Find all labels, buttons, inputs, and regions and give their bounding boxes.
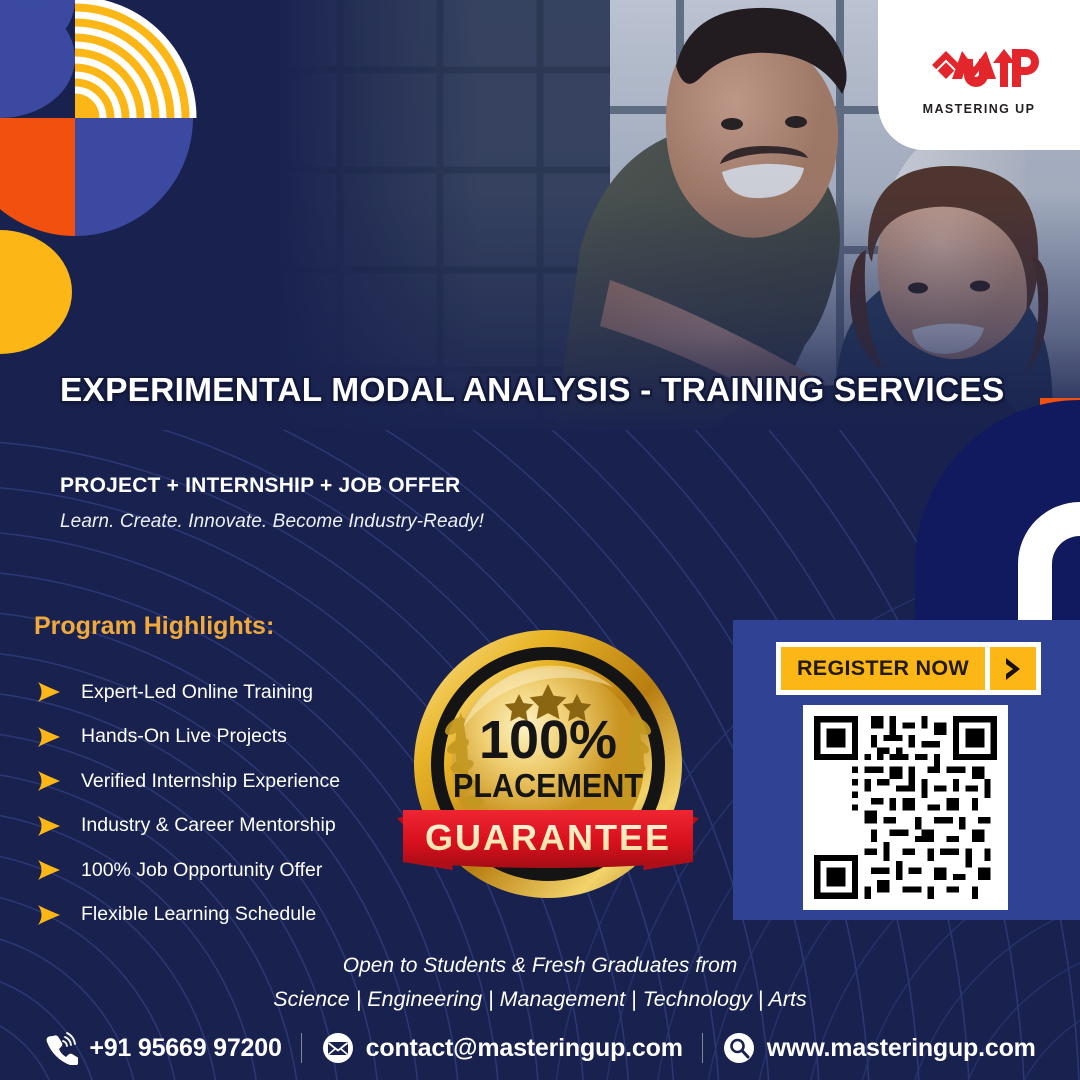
arrow-right-icon [36, 770, 62, 792]
footer-separator [301, 1033, 302, 1063]
list-item: Hands-On Live Projects [36, 715, 340, 760]
contact-phone[interactable]: +91 95669 97200 [44, 1031, 281, 1065]
brand-logo-card: MASTERING UP [878, 0, 1080, 150]
qr-code-icon [814, 716, 997, 899]
arrow-right-icon [36, 726, 62, 748]
contact-website[interactable]: www.masteringup.com [722, 1031, 1036, 1065]
promo-poster: MASTERING UP EXPERIMENTAL MODAL ANALYSIS… [0, 0, 1080, 1080]
logo-wordmark: MASTERING UP [923, 102, 1036, 116]
list-item: 100% Job Opportunity Offer [36, 848, 340, 893]
search-icon [722, 1031, 756, 1065]
arrow-right-icon [36, 904, 62, 926]
badge-percent: 100% [479, 710, 617, 770]
hero-subtitle: PROJECT + INTERNSHIP + JOB OFFER [60, 474, 460, 498]
geometric-decoration-right [840, 380, 1080, 630]
list-item: Verified Internship Experience [36, 759, 340, 804]
envelope-icon [321, 1031, 355, 1065]
badge-line2: PLACEMENT [453, 767, 643, 804]
list-item-label: 100% Job Opportunity Offer [81, 859, 322, 882]
register-button-frame: REGISTER NOW [776, 642, 1041, 695]
list-item-label: Hands-On Live Projects [81, 725, 287, 748]
highlights-list: Expert-Led Online Training Hands-On Live… [36, 670, 340, 937]
list-item: Expert-Led Online Training [36, 670, 340, 715]
phone-number: +91 95669 97200 [89, 1034, 281, 1063]
list-item-label: Flexible Learning Schedule [81, 903, 316, 926]
page-title: EXPERIMENTAL MODAL ANALYSIS - TRAINING S… [60, 372, 1004, 410]
register-chevron-button[interactable] [990, 647, 1036, 690]
geometric-decoration-top-left [0, 0, 330, 360]
arrow-right-icon [36, 859, 62, 881]
eligibility-line-2: Science | Engineering | Management | Tec… [0, 983, 1080, 1016]
qr-code-frame[interactable] [803, 705, 1008, 910]
list-item: Industry & Career Mentorship [36, 804, 340, 849]
placement-guarantee-badge-icon: 100% PLACEMENT GUARANTEE [383, 622, 713, 918]
arrow-right-icon [36, 815, 62, 837]
badge-ribbon-label: GUARANTEE [425, 817, 671, 858]
list-item-label: Verified Internship Experience [81, 770, 340, 793]
eligibility-text: Open to Students & Fresh Graduates from … [0, 950, 1080, 1016]
footer-separator [702, 1033, 703, 1063]
arrow-right-icon [36, 681, 62, 703]
register-panel: REGISTER NOW [733, 620, 1080, 920]
eligibility-line-1: Open to Students & Fresh Graduates from [0, 950, 1080, 983]
website-url: www.masteringup.com [767, 1034, 1036, 1063]
list-item-label: Industry & Career Mentorship [81, 814, 336, 837]
list-item: Flexible Learning Schedule [36, 893, 340, 938]
email-address: contact@masteringup.com [366, 1034, 683, 1063]
register-now-button[interactable]: REGISTER NOW [781, 647, 985, 690]
list-item-label: Expert-Led Online Training [81, 681, 313, 704]
contact-footer: +91 95669 97200 contact@masteringup.com … [0, 1016, 1080, 1080]
mup-logo-icon [914, 35, 1044, 97]
contact-email[interactable]: contact@masteringup.com [321, 1031, 683, 1065]
register-button-label: REGISTER NOW [797, 656, 969, 681]
chevron-right-icon [1002, 656, 1024, 682]
highlights-heading: Program Highlights: [34, 612, 274, 641]
hero-tagline: Learn. Create. Innovate. Become Industry… [60, 511, 484, 533]
phone-icon [44, 1031, 78, 1065]
